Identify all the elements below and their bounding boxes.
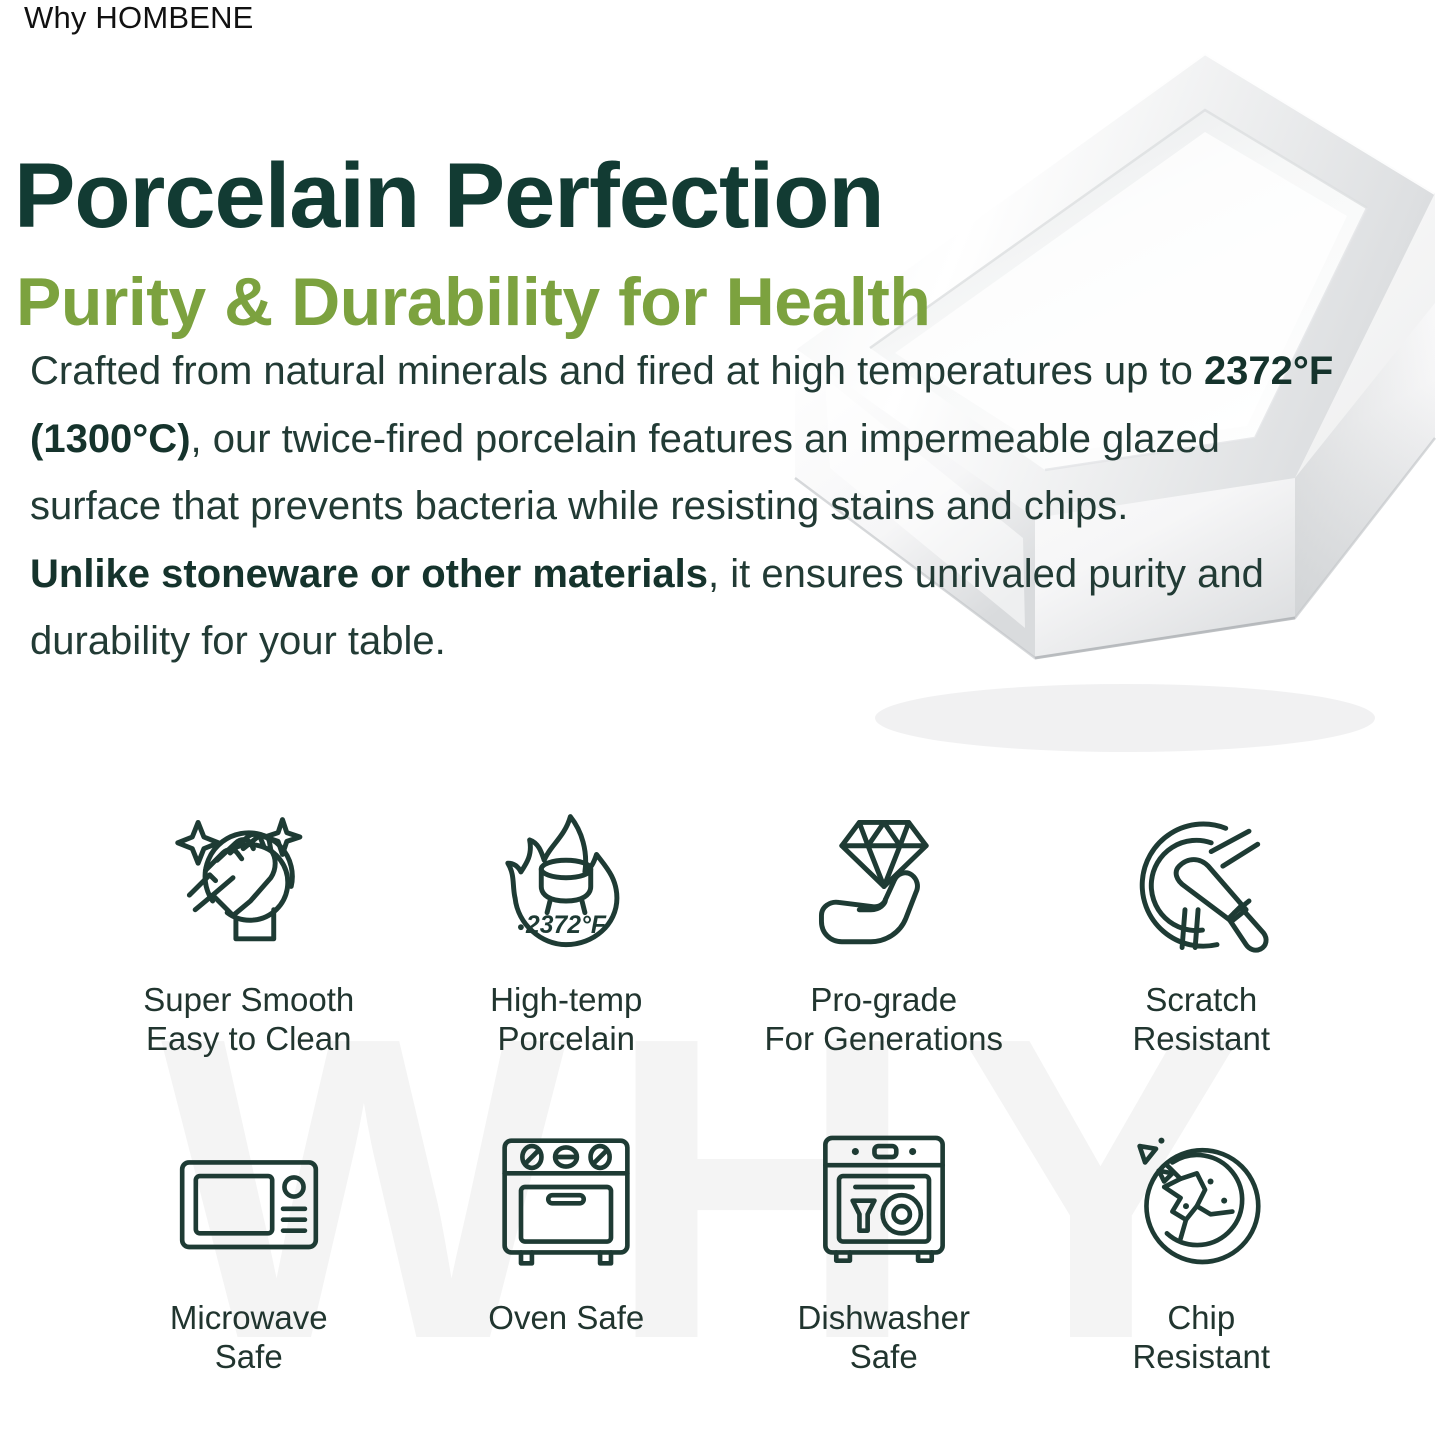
feature-row-1: Super Smooth Easy to Clean 2372°F — [90, 805, 1360, 1059]
feature-label: Microwave Safe — [170, 1299, 328, 1377]
knife-scratch-plate-icon — [1121, 805, 1281, 965]
feature-row-2: Microwave Safe — [90, 1127, 1360, 1377]
diamond-in-hand-icon — [804, 805, 964, 965]
flame-high-temp-icon: 2372°F — [486, 805, 646, 965]
body-p1-post: , our twice-fired porcelain features an … — [30, 417, 1220, 529]
page-subheadline: Purity & Durability for Health — [16, 268, 930, 336]
feature-label: Pro-grade For Generations — [765, 981, 1003, 1059]
feature-high-temp: 2372°F High-temp Porcelain — [408, 805, 726, 1059]
feature-microwave-safe: Microwave Safe — [90, 1127, 408, 1377]
dishwasher-icon — [809, 1127, 959, 1277]
feature-label: High-temp Porcelain — [490, 981, 642, 1059]
oven-stove-icon — [491, 1127, 641, 1277]
body-copy: Crafted from natural minerals and fired … — [30, 338, 1360, 676]
microwave-icon — [174, 1127, 324, 1277]
page-headline: Porcelain Perfection — [14, 150, 884, 242]
body-paragraph-2: Unlike stoneware or other materials, it … — [30, 541, 1360, 676]
body-p1-pre: Crafted from natural minerals and fired … — [30, 349, 1204, 393]
feature-pro-grade: Pro-grade For Generations — [725, 805, 1043, 1059]
feature-label: Dishwasher Safe — [798, 1299, 970, 1377]
feature-chip-resistant: Chip Resistant — [1043, 1127, 1361, 1377]
feature-label: Super Smooth Easy to Clean — [143, 981, 354, 1059]
chipped-plate-icon — [1126, 1127, 1276, 1277]
brand-eyebrow: Why HOMBENE — [24, 0, 254, 36]
sparkle-hand-wipe-icon — [169, 805, 329, 965]
flame-temp-text: 2372°F — [525, 912, 607, 939]
feature-label: Oven Safe — [488, 1299, 644, 1338]
feature-label: Scratch Resistant — [1132, 981, 1270, 1059]
feature-super-smooth: Super Smooth Easy to Clean — [90, 805, 408, 1059]
body-p2-bold: Unlike stoneware or other materials — [30, 552, 708, 596]
feature-oven-safe: Oven Safe — [408, 1127, 726, 1377]
feature-dishwasher-safe: Dishwasher Safe — [725, 1127, 1043, 1377]
feature-scratch-resistant: Scratch Resistant — [1043, 805, 1361, 1059]
feature-label: Chip Resistant — [1132, 1299, 1270, 1377]
body-paragraph-1: Crafted from natural minerals and fired … — [30, 349, 1333, 528]
feature-grid: Super Smooth Easy to Clean 2372°F — [90, 805, 1360, 1377]
